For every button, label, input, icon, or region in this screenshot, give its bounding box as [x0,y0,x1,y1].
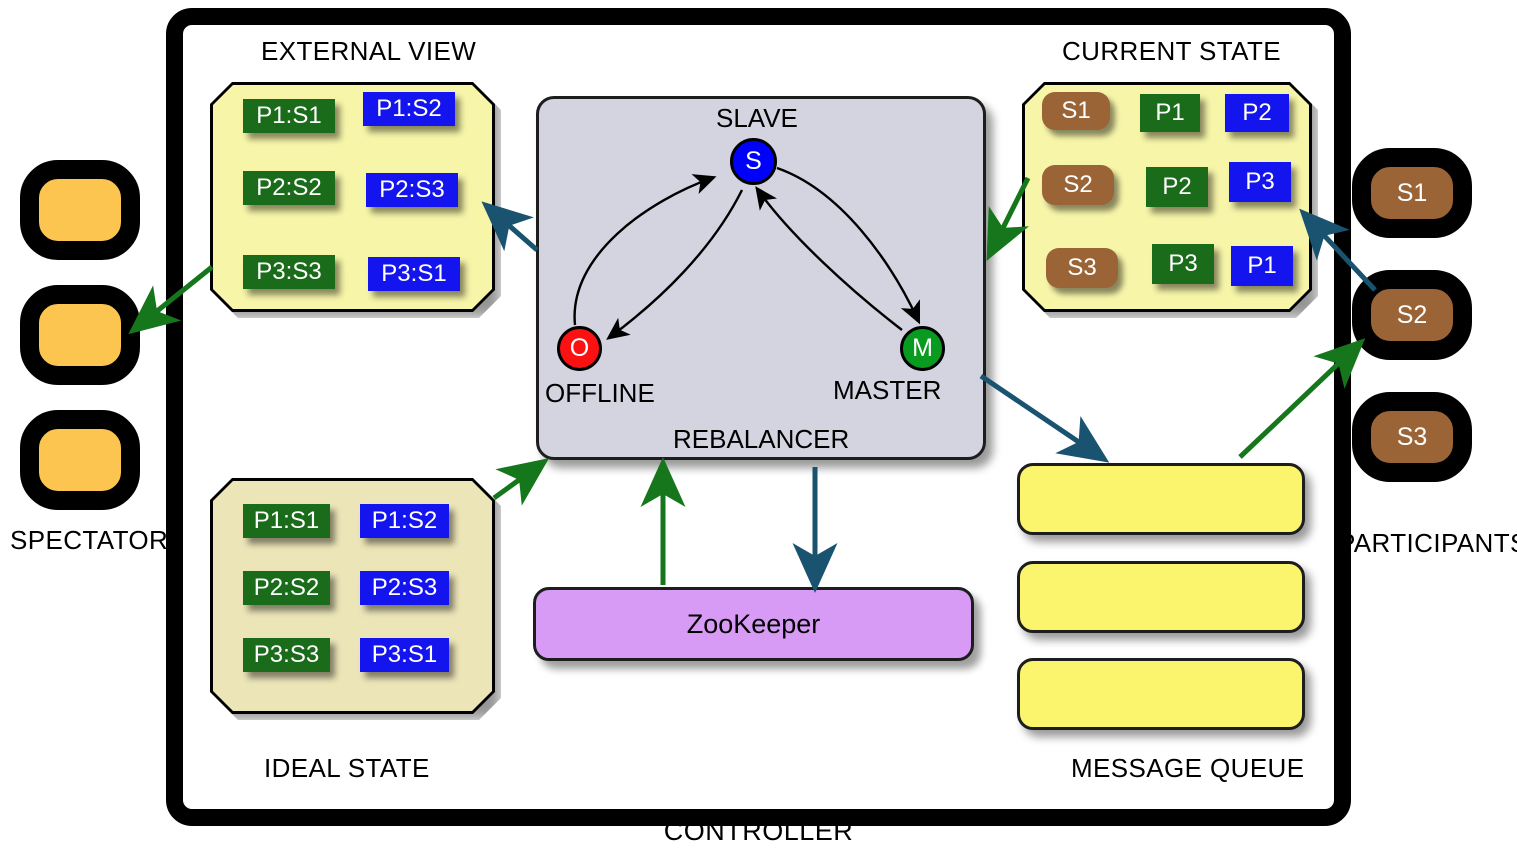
current-state-chip-brown-2[interactable]: S2 [1042,165,1114,205]
external-view-chip-blue-3[interactable]: P3:S1 [368,257,460,291]
ideal-state-caption: IDEAL STATE [264,753,430,784]
chip-label: S2 [1063,171,1092,199]
message-queue-item-3[interactable] [1017,658,1305,730]
chip-label: P3 [1168,250,1197,278]
chip-label: P3:S1 [372,641,437,669]
chip-label: P2:S3 [379,176,444,204]
spectator-node-1[interactable] [20,160,140,260]
external-view-chip-green-3[interactable]: P3:S3 [243,255,335,289]
rebalancer-caption: REBALANCER [673,424,849,455]
participant-node-3[interactable]: S3 [1352,392,1472,482]
slave-node-label: SLAVE [716,103,798,134]
current-state-chip-green-2[interactable]: P2 [1146,167,1208,207]
current-state-chip-green-1[interactable]: P1 [1140,94,1200,132]
chip-label: P1:S1 [256,102,321,130]
chip-label: P2 [1162,173,1191,201]
current-state-chip-blue-2[interactable]: P3 [1229,162,1291,202]
message-queue-item-1[interactable] [1017,463,1305,535]
current-state-caption: CURRENT STATE [1062,36,1281,67]
external-view-chip-blue-2[interactable]: P2:S3 [366,173,458,207]
node-glyph: O [570,334,589,363]
slave-node[interactable]: S [730,138,777,185]
ideal-state-chip-green-2[interactable]: P2:S2 [243,571,330,605]
participant-label: S1 [1397,179,1428,208]
chip-label: P1:S1 [254,507,319,535]
current-state-chip-blue-1[interactable]: P2 [1225,94,1289,132]
zookeeper-label: ZooKeeper [687,609,821,640]
master-node-label: MASTER [833,375,941,406]
node-glyph: S [745,147,762,176]
current-state-chip-brown-1[interactable]: S1 [1042,92,1110,130]
participants-caption: PARTICIPANTS [1338,528,1517,559]
chip-label: P2:S3 [372,574,437,602]
ideal-state-chip-green-1[interactable]: P1:S1 [243,504,330,538]
chip-label: P3:S1 [381,260,446,288]
chip-label: P3 [1245,168,1274,196]
chip-label: P2:S2 [256,174,321,202]
participant-node-1[interactable]: S1 [1352,148,1472,238]
current-state-chip-brown-3[interactable]: S3 [1046,248,1118,288]
chip-label: P1:S2 [376,95,441,123]
external-view-caption: EXTERNAL VIEW [261,36,476,67]
chip-label: P1 [1247,252,1276,280]
ideal-state-chip-green-3[interactable]: P3:S3 [243,638,330,672]
external-view-chip-green-2[interactable]: P2:S2 [243,171,335,205]
spectator-node-3[interactable] [20,410,140,510]
chip-label: P1 [1155,99,1184,127]
offline-node-label: OFFLINE [545,378,655,409]
current-state-chip-blue-3[interactable]: P1 [1231,246,1293,286]
chip-label: P3:S3 [254,641,319,669]
external-view-chip-blue-1[interactable]: P1:S2 [363,92,455,126]
chip-label: P1:S2 [372,507,437,535]
message-queue-item-2[interactable] [1017,561,1305,633]
ideal-state-chip-blue-2[interactable]: P2:S3 [360,571,449,605]
participant-label: S2 [1397,301,1428,330]
spectators-caption: SPECTATORS [10,525,186,556]
chip-label: S3 [1067,254,1096,282]
offline-node[interactable]: O [557,326,602,371]
chip-label: P2 [1242,99,1271,127]
controller-caption: CONTROLLER [0,816,1517,847]
diagram-canvas: SPECTATORS S1 S2 S3 PARTICIPANTS EXTERNA… [0,0,1517,854]
node-glyph: M [912,334,933,363]
chip-label: S1 [1061,97,1090,125]
participant-node-2[interactable]: S2 [1352,270,1472,360]
spectator-node-2[interactable] [20,285,140,385]
message-queue-caption: MESSAGE QUEUE [1071,753,1304,784]
master-node[interactable]: M [900,326,945,371]
participant-label: S3 [1397,423,1428,452]
external-view-chip-green-1[interactable]: P1:S1 [243,99,335,133]
ideal-state-chip-blue-1[interactable]: P1:S2 [360,504,449,538]
ideal-state-chip-blue-3[interactable]: P3:S1 [360,638,449,672]
chip-label: P3:S3 [256,258,321,286]
zookeeper-box[interactable]: ZooKeeper [533,587,974,661]
current-state-chip-green-3[interactable]: P3 [1152,244,1214,284]
chip-label: P2:S2 [254,574,319,602]
